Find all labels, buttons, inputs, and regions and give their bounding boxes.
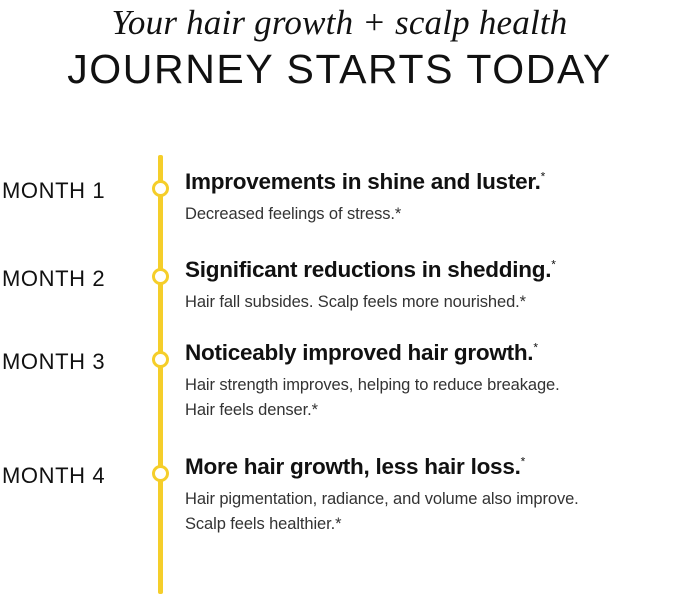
milestone-subline: Decreased feelings of stress.* [185,202,675,227]
milestone-headline: Significant reductions in shedding.* [185,256,675,284]
timeline-marker-icon [152,351,169,368]
milestone-headline-text: More hair growth, less hair loss. [185,454,521,479]
milestone-subline: Hair feels denser.* [185,398,675,423]
milestone-headline-text: Significant reductions in shedding. [185,257,551,282]
header-script-line: Your hair growth + scalp health [0,2,679,44]
timeline-row-content: Improvements in shine and luster.* Decre… [185,168,675,227]
timeline-row-content: More hair growth, less hair loss.* Hair … [185,453,675,537]
timeline-marker-icon [152,465,169,482]
timeline-row-content: Noticeably improved hair growth.* Hair s… [185,339,675,423]
milestone-headline: Improvements in shine and luster.* [185,168,675,196]
timeline-marker-icon [152,180,169,197]
milestone-subline: Scalp feels healthier.* [185,512,675,537]
month-label: MONTH 1 [2,178,142,204]
milestone-headline: Noticeably improved hair growth.* [185,339,675,367]
milestone-subline: Hair pigmentation, radiance, and volume … [185,487,675,512]
footnote-asterisk: * [541,170,545,184]
footnote-asterisk: * [521,455,525,469]
timeline-marker-icon [152,268,169,285]
milestone-subline: Hair strength improves, helping to reduc… [185,373,675,398]
page-title: JOURNEY STARTS TODAY [0,44,679,94]
month-label: MONTH 4 [2,463,142,489]
timeline-vertical-line [158,155,163,594]
footnote-asterisk: * [533,341,537,355]
page-header: Your hair growth + scalp health JOURNEY … [0,0,679,94]
milestone-headline-text: Improvements in shine and luster. [185,169,541,194]
timeline-row-content: Significant reductions in shedding.* Hai… [185,256,675,315]
month-label: MONTH 3 [2,349,142,375]
footnote-asterisk: * [551,258,555,272]
milestone-headline-text: Noticeably improved hair growth. [185,340,533,365]
month-label: MONTH 2 [2,266,142,292]
milestone-subline: Hair fall subsides. Scalp feels more nou… [185,290,675,315]
growth-timeline: MONTH 1 Improvements in shine and luster… [0,128,679,594]
milestone-headline: More hair growth, less hair loss.* [185,453,675,481]
